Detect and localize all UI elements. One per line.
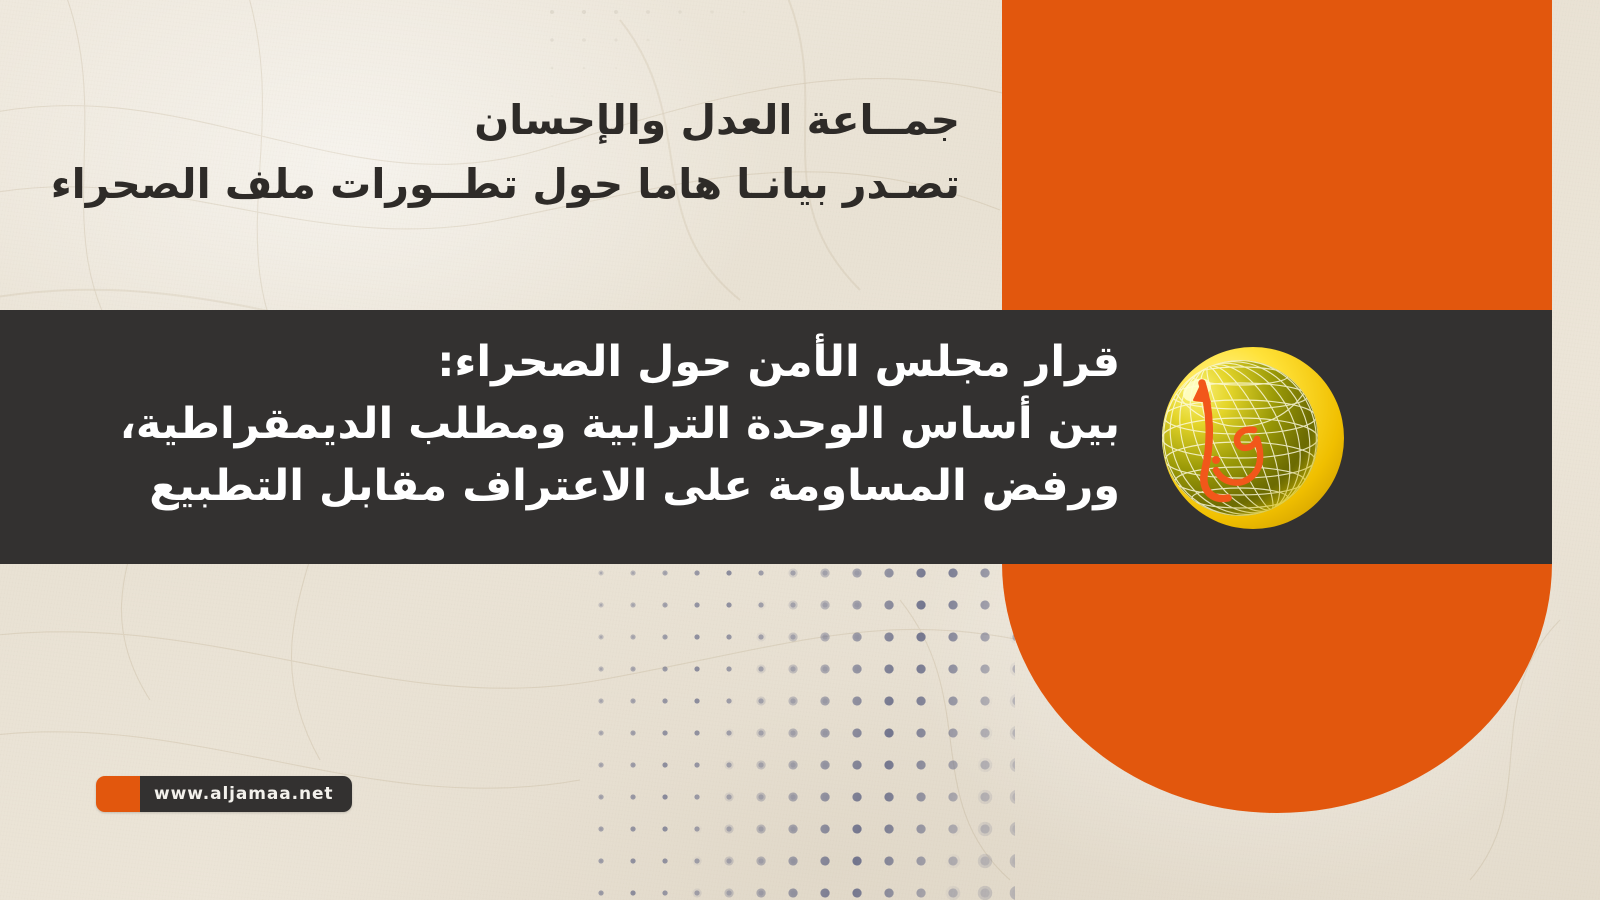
headline-line-one: قرار مجلس الأمن حول الصحراء: (30, 332, 1120, 394)
badge-dark-plate: www.aljamaa.net (140, 776, 352, 812)
header-text-block: جمــاعة العدل والإحسان تصـدر بيانـا هاما… (0, 96, 960, 211)
orange-rectangle-shape (1002, 0, 1552, 310)
headline-line-two: بين أساس الوحدة الترابية ومطلب الديمقراط… (30, 394, 1120, 456)
badge-orange-swatch (96, 776, 140, 812)
header-line-one: جمــاعة العدل والإحسان (0, 96, 960, 144)
poster-canvas: جمــاعة العدل والإحسان تصـدر بيانـا هاما… (0, 0, 1600, 900)
header-line-two: تصـدر بيانـا هاما حول تطــورات ملف الصحر… (0, 158, 960, 210)
website-url-badge[interactable]: www.aljamaa.net (96, 776, 352, 812)
website-url-text: www.aljamaa.net (154, 784, 333, 804)
globe-crescent-icon (1150, 338, 1355, 538)
aljamaa-logo (1150, 338, 1355, 538)
headline-text-block: قرار مجلس الأمن حول الصحراء: بين أساس ال… (30, 332, 1120, 518)
headline-line-three: ورفض المساومة على الاعتراف مقابل التطبيع (30, 456, 1120, 518)
